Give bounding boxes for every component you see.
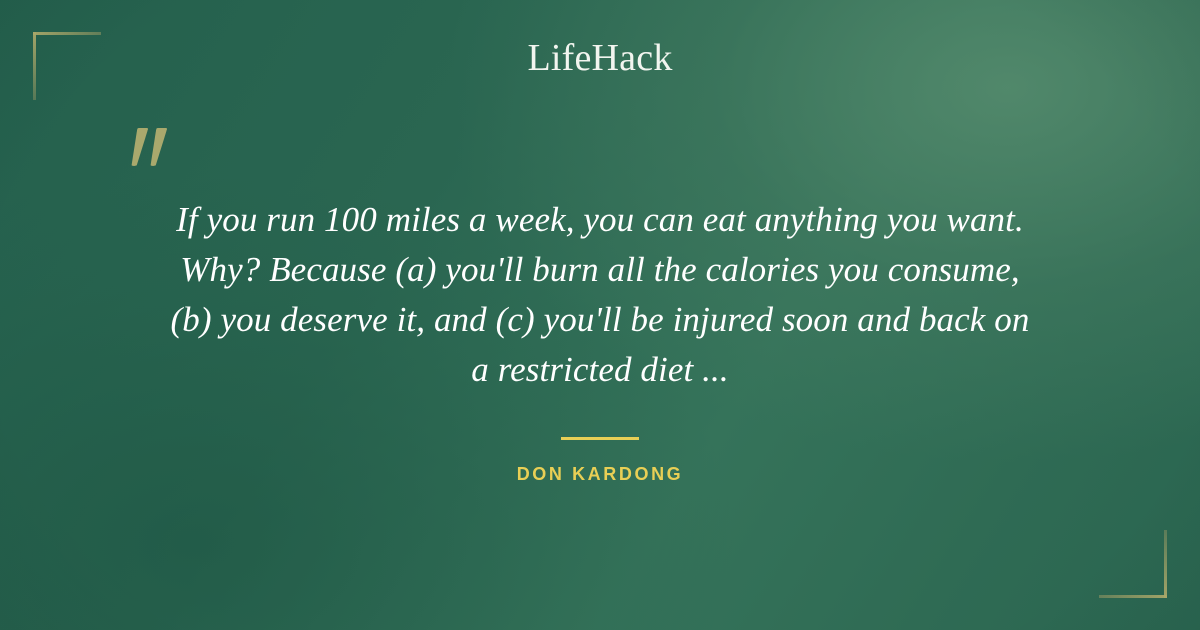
corner-bracket-bottom-right (1099, 530, 1167, 598)
quote-card: LifeHack If you run 100 miles a week, yo… (0, 0, 1200, 630)
quote-line: If you run 100 miles a week, you can eat… (60, 195, 1140, 245)
corner-bracket-bottom-right-horizontal (1099, 595, 1167, 598)
corner-bracket-top-left-horizontal (33, 32, 101, 35)
quote-text: If you run 100 miles a week, you can eat… (60, 195, 1140, 395)
divider-rule (561, 437, 639, 440)
quote-line: (b) you deserve it, and (c) you'll be in… (60, 295, 1140, 345)
quote-line: Why? Because (a) you'll burn all the cal… (60, 245, 1140, 295)
quote-line: a restricted diet ... (60, 345, 1140, 395)
quote-mark-stroke-right (148, 128, 168, 166)
quote-mark-stroke-left (129, 128, 149, 166)
brand-logo: LifeHack (0, 39, 1200, 77)
quote-mark-icon (126, 112, 186, 172)
corner-bracket-bottom-right-vertical (1164, 530, 1167, 598)
author-name: DON KARDONG (0, 464, 1200, 485)
